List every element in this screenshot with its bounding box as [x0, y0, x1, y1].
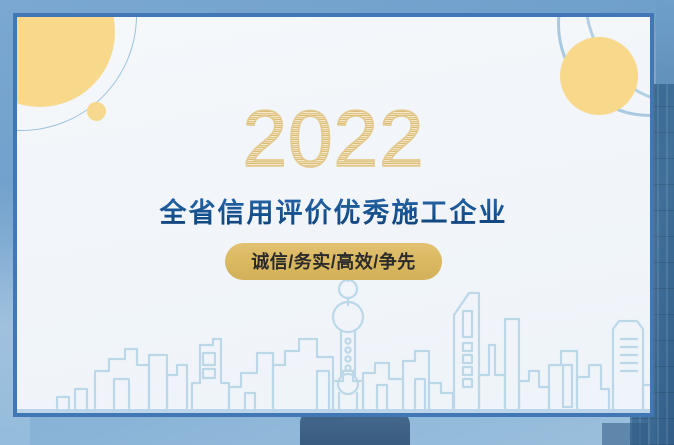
poster-canvas: 2022 全省信用评价优秀施工企业 诚信/务实/高效/争先 [0, 0, 674, 445]
background-silhouette-bottom-right [602, 423, 648, 445]
skyline-ground-line [17, 409, 650, 413]
poster-content: 2022 全省信用评价优秀施工企业 诚信/务实/高效/争先 [17, 17, 650, 280]
year-heading: 2022 [17, 99, 650, 179]
page-title: 全省信用评价优秀施工企业 [17, 191, 650, 230]
slogan-badge: 诚信/务实/高效/争先 [225, 243, 442, 280]
slogan-container: 诚信/务实/高效/争先 [17, 243, 650, 280]
poster-frame: 2022 全省信用评价优秀施工企业 诚信/务实/高效/争先 [13, 13, 654, 417]
